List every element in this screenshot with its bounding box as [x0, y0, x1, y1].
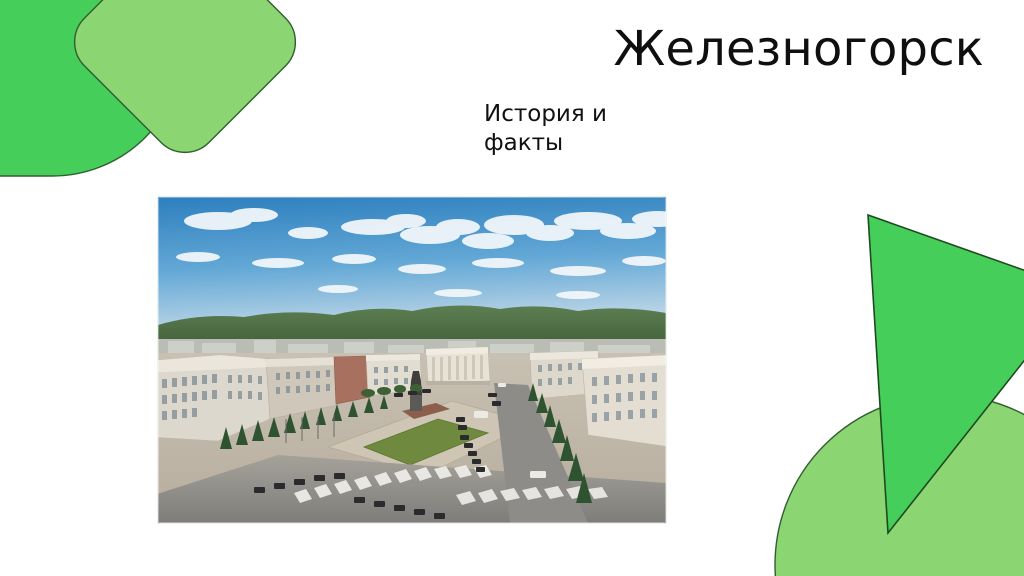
right-triangle-shape	[868, 215, 1024, 533]
top-left-rounded-diamond-shape	[61, 0, 310, 166]
page-title: Железногорск	[484, 24, 984, 76]
photo-central-building	[426, 347, 490, 385]
city-square-photo	[158, 197, 666, 523]
subtitle-line-2: факты	[484, 129, 674, 158]
top-left-rounded-blob-shape	[0, 0, 184, 176]
subtitle-block: История и факты	[484, 100, 674, 159]
subtitle-line-1: История и	[484, 100, 674, 129]
bottom-right-circle-shape	[775, 395, 1024, 576]
presentation-slide: Железногорск История и факты	[0, 0, 1024, 576]
photo-monument-plinth	[410, 393, 422, 411]
title-block: Железногорск	[484, 24, 984, 76]
